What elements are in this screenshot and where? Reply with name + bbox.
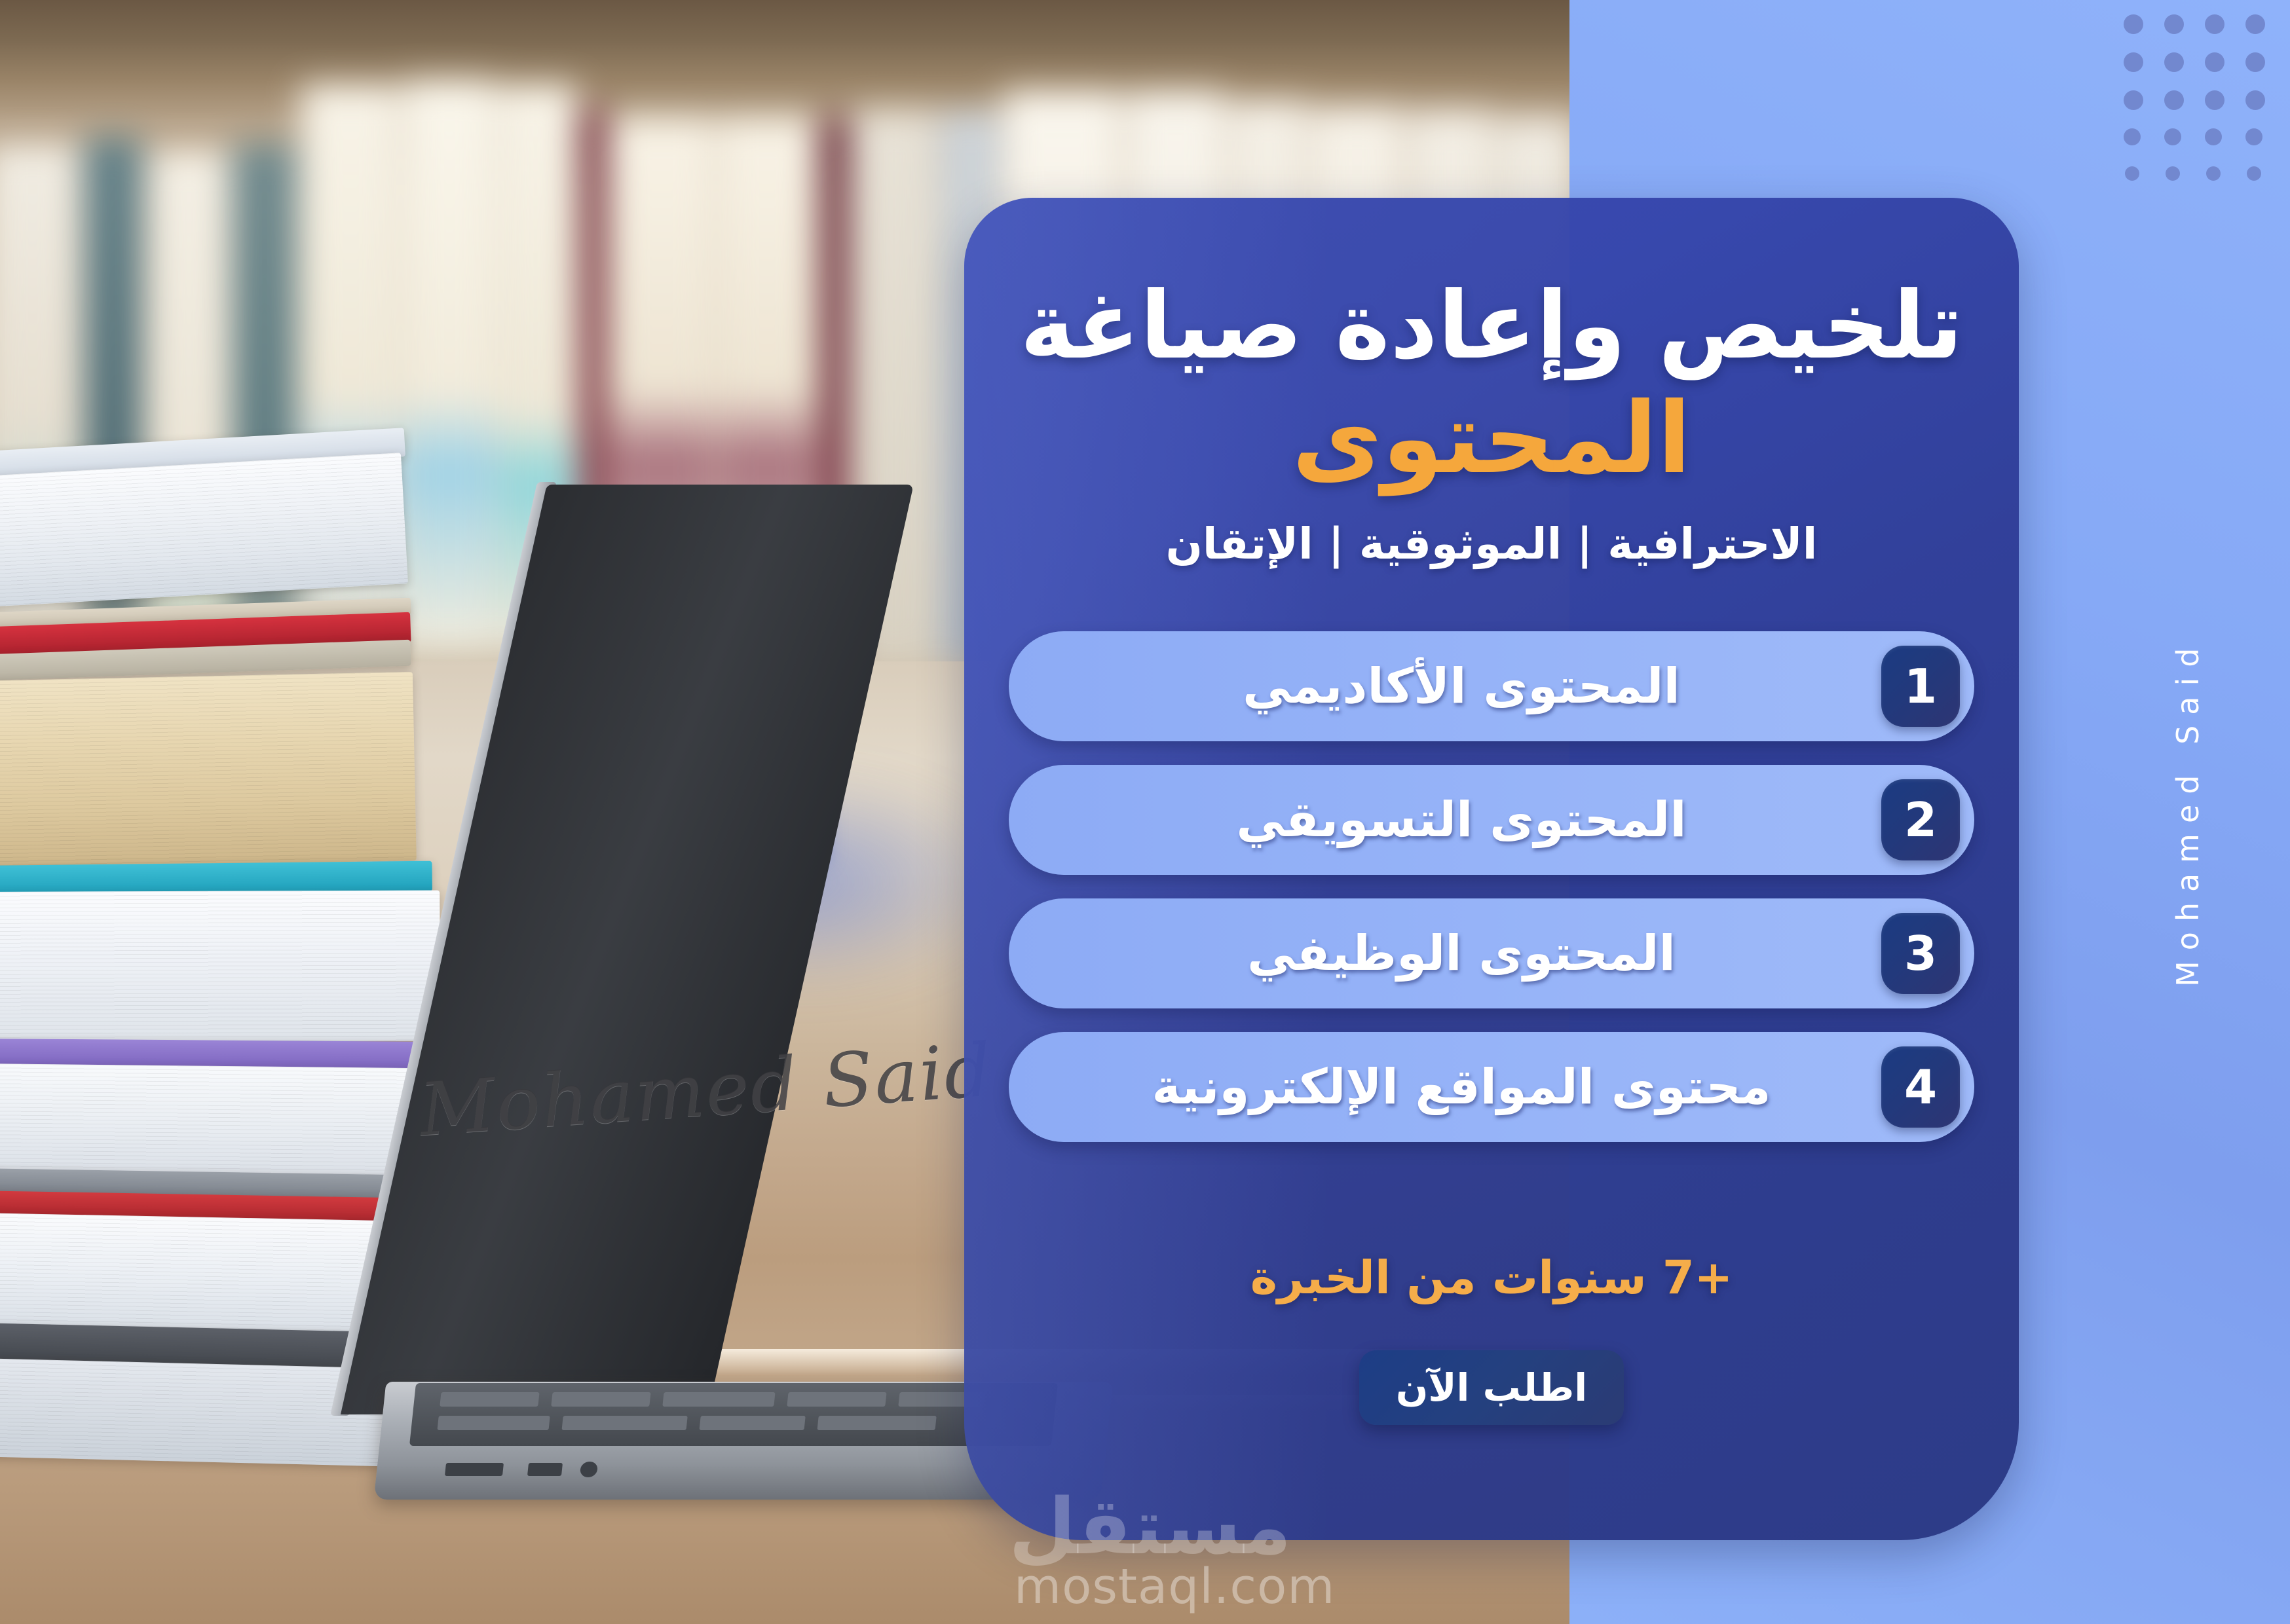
cta-container: اطلب الآن <box>964 1350 2019 1425</box>
list-item[interactable]: 1 المحتوى الأكاديمي <box>1009 631 1974 741</box>
poster-canvas: Mohamed Said Mohamed Said <box>0 0 2290 1624</box>
decorative-dot-grid <box>2124 14 2264 186</box>
list-item[interactable]: 2 المحتوى التسويقي <box>1009 765 1974 875</box>
list-item[interactable]: 4 محتوى المواقع الإلكترونية <box>1009 1032 1974 1142</box>
service-number-badge: 2 <box>1881 779 1960 860</box>
author-name-vertical: Mohamed Said <box>2149 498 2227 1126</box>
value-props-subline: الاحترافية | الموثوقية | الإتقان <box>964 519 2019 569</box>
headline-accent: المحتوى <box>964 385 2019 493</box>
service-label: المحتوى الوظيفي <box>1048 925 1881 982</box>
service-number-badge: 1 <box>1881 646 1960 727</box>
service-label: محتوى المواقع الإلكترونية <box>1048 1059 1881 1115</box>
service-number-badge: 4 <box>1881 1046 1960 1128</box>
order-now-button[interactable]: اطلب الآن <box>1359 1350 1624 1425</box>
service-number-badge: 3 <box>1881 913 1960 994</box>
experience-badge: +7 سنوات من الخبرة <box>964 1251 2019 1304</box>
offer-card: تلخيص وإعادة صياغة المحتوى الاحترافية | … <box>964 198 2019 1540</box>
service-label: المحتوى التسويقي <box>1048 792 1881 848</box>
service-label: المحتوى الأكاديمي <box>1048 658 1881 714</box>
services-list: 1 المحتوى الأكاديمي 2 المحتوى التسويقي 3… <box>1009 631 1974 1166</box>
list-item[interactable]: 3 المحتوى الوظيفي <box>1009 898 1974 1008</box>
headline-primary: تلخيص وإعادة صياغة <box>964 274 2019 378</box>
